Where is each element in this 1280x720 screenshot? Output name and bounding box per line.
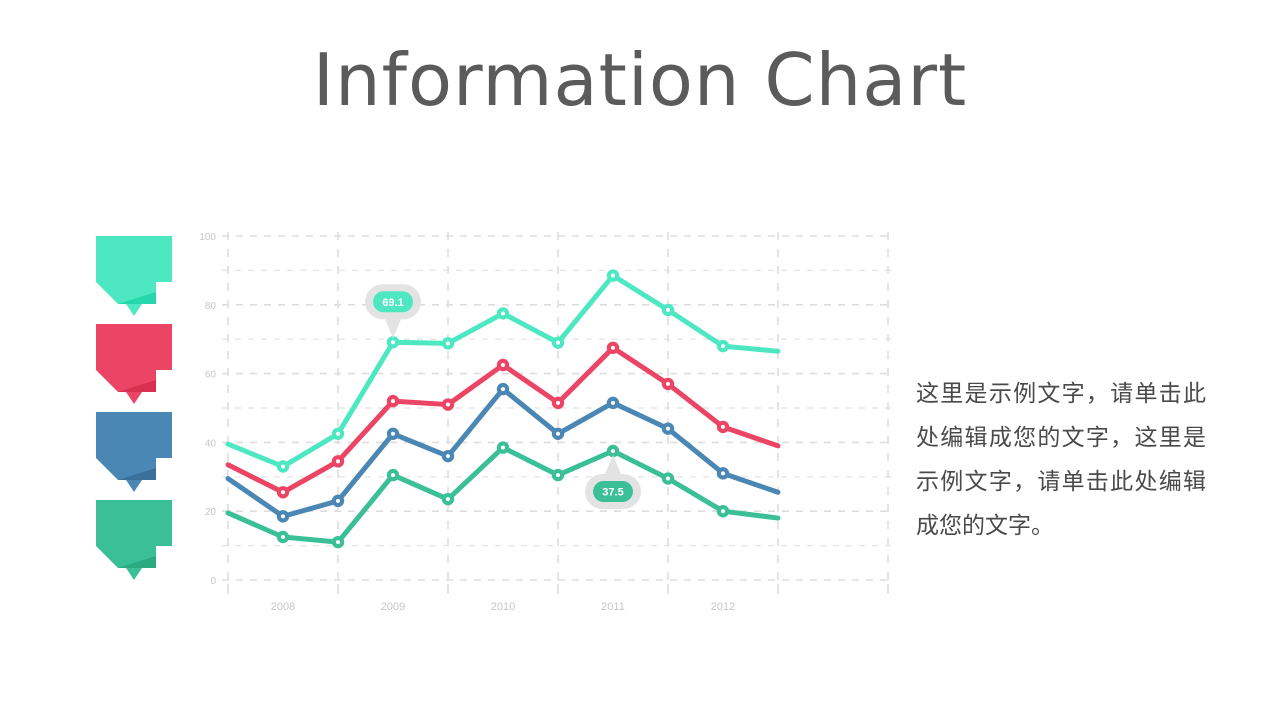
series-teal-marker (444, 495, 452, 503)
series-pink-marker (389, 397, 397, 405)
page-title: Information Chart (0, 38, 1280, 122)
series-pink-marker (664, 380, 672, 388)
series-teal-marker (279, 533, 287, 541)
series-teal-marker (554, 471, 562, 479)
chart-series (228, 271, 778, 546)
y-axis-labels: 020406080100 (199, 232, 216, 587)
svg-text:60: 60 (205, 370, 217, 381)
svg-text:0: 0 (210, 576, 216, 587)
x-axis-labels: 20082009201020112012 (271, 601, 735, 613)
series-mint-marker (334, 430, 342, 438)
series-pink-marker (279, 488, 287, 496)
series-mint-marker (279, 462, 287, 470)
svg-text:2008: 2008 (271, 601, 295, 613)
series-pink-marker (444, 400, 452, 408)
series-blue-marker (609, 399, 617, 407)
series-blue-marker (499, 385, 507, 393)
svg-text:2012: 2012 (711, 601, 735, 613)
series-teal-marker (609, 447, 617, 455)
body-text: 这里是示例文字，请单击此处编辑成您的文字，这里是示例文字，请单击此处编辑成您的文… (916, 372, 1206, 548)
ribbon-legend (88, 236, 180, 582)
series-teal (228, 448, 778, 543)
series-teal-marker (389, 471, 397, 479)
series-mint-marker (554, 339, 562, 347)
series-blue-marker (444, 452, 452, 460)
series-teal-marker (664, 474, 672, 482)
series-pink-marker (609, 344, 617, 352)
line-chart: 020406080100 20082009201020112012 69.137… (190, 226, 900, 606)
series-mint-marker (719, 342, 727, 350)
series-mint-marker (609, 271, 617, 279)
ribbon-blue-icon (88, 412, 180, 492)
ribbon-pink-icon (88, 324, 180, 404)
series-pink-marker (554, 399, 562, 407)
series-mint-marker (444, 339, 452, 347)
svg-text:80: 80 (205, 301, 217, 312)
ribbon-mint-icon (88, 236, 180, 316)
series-mint-marker (499, 309, 507, 317)
svg-text:2011: 2011 (601, 601, 625, 613)
series-teal-marker (719, 507, 727, 515)
series-pink-marker (719, 423, 727, 431)
callout-69.1: 69.1 (365, 284, 421, 338)
slide-root: Information Chart (0, 0, 1280, 720)
svg-text:100: 100 (199, 232, 216, 243)
series-blue-marker (334, 497, 342, 505)
series-pink-marker (334, 457, 342, 465)
svg-text:2010: 2010 (491, 601, 515, 613)
svg-text:20: 20 (205, 507, 217, 518)
series-mint-marker (664, 306, 672, 314)
series-teal-marker (499, 443, 507, 451)
series-blue-marker (719, 469, 727, 477)
series-pink-marker (499, 361, 507, 369)
series-blue-marker (554, 430, 562, 438)
svg-text:2009: 2009 (381, 601, 405, 613)
svg-text:40: 40 (205, 438, 217, 449)
series-mint-marker (389, 338, 397, 346)
series-blue-marker (389, 430, 397, 438)
svg-text:69.1: 69.1 (382, 297, 403, 309)
series-blue-marker (664, 425, 672, 433)
series-blue-marker (279, 512, 287, 520)
series-teal-marker (334, 538, 342, 546)
svg-text:37.5: 37.5 (602, 487, 623, 499)
ribbon-teal-icon (88, 500, 180, 580)
